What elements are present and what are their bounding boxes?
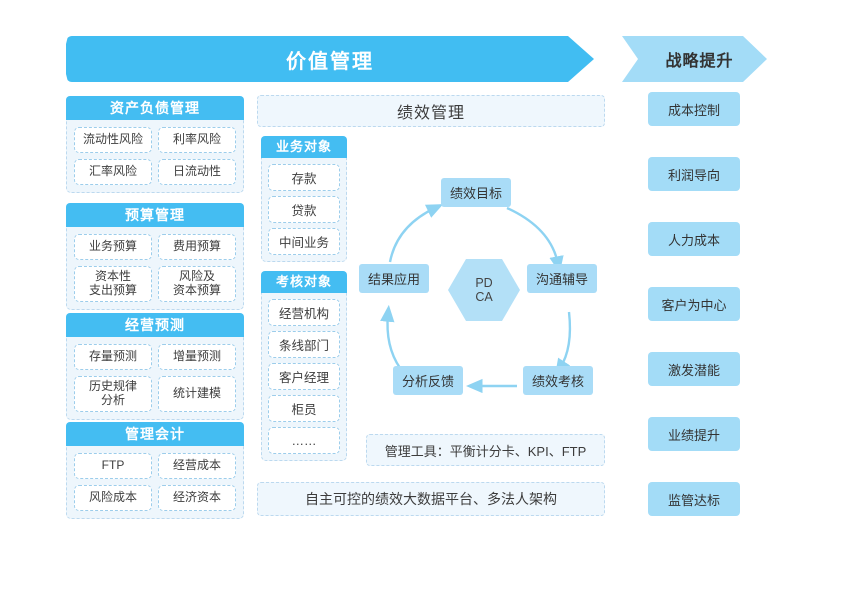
pdca-node-assessment: 绩效考核 [523, 366, 593, 395]
object-column-item[interactable]: 存款 [268, 164, 340, 191]
management-tools-label: 管理工具：平衡计分卡、KPI、FTP [385, 441, 587, 460]
left-panel-title: 资产负债管理 [66, 96, 244, 120]
arrow-goal-to-coaching [507, 208, 558, 264]
object-column-item[interactable]: 条线部门 [268, 331, 340, 358]
left-panel-grid: FTP经营成本风险成本经济资本 [67, 453, 243, 511]
pdca-node-goal: 绩效目标 [441, 178, 511, 207]
left-panel-cell[interactable]: 经济资本 [158, 485, 236, 511]
strategy-item[interactable]: 人力成本 [648, 222, 740, 256]
platform-box: 自主可控的绩效大数据平台、多法人架构 [257, 482, 605, 516]
pdca-node-coaching-label: 沟通辅导 [536, 269, 588, 288]
left-panel: 预算管理业务预算费用预算资本性 支出预算风险及 资本预算 [66, 203, 244, 310]
strategy-item[interactable]: 业绩提升 [648, 417, 740, 451]
left-panel-grid: 存量预测增量预测历史规律 分析统计建模 [67, 344, 243, 412]
object-column-item[interactable]: …… [268, 427, 340, 454]
arrow-analysis-to-application [388, 314, 401, 368]
object-column-item[interactable]: 经营机构 [268, 299, 340, 326]
object-column-title: 考核对象 [261, 271, 347, 293]
left-panel-title: 经营预测 [66, 313, 244, 337]
left-panel-cell[interactable]: 资本性 支出预算 [74, 266, 152, 302]
left-panel-grid: 业务预算费用预算资本性 支出预算风险及 资本预算 [67, 234, 243, 302]
left-panel: 经营预测存量预测增量预测历史规律 分析统计建模 [66, 313, 244, 420]
left-panel-title: 预算管理 [66, 203, 244, 227]
strategy-item[interactable]: 监管达标 [648, 482, 740, 516]
object-column: 考核对象经营机构条线部门客户经理柜员…… [261, 271, 347, 461]
left-panel-cell[interactable]: 经营成本 [158, 453, 236, 479]
left-panel-cell[interactable]: 日流动性 [158, 159, 236, 185]
object-column-item[interactable]: 中间业务 [268, 228, 340, 255]
performance-management-header: 绩效管理 [257, 95, 605, 127]
left-panel-cell[interactable]: 业务预算 [74, 234, 152, 260]
arrow-coaching-to-assessment [560, 312, 570, 368]
left-panel-cell[interactable]: 利率风险 [158, 127, 236, 153]
pdca-node-application-label: 结果应用 [368, 269, 420, 288]
strategy-item[interactable]: 利润导向 [648, 157, 740, 191]
performance-management-title: 绩效管理 [397, 99, 465, 123]
left-panel-cell[interactable]: 流动性风险 [74, 127, 152, 153]
main-banner-value-management: 价值管理 [66, 36, 594, 82]
left-panel-cell[interactable]: 汇率风险 [74, 159, 152, 185]
pdca-node-assessment-label: 绩效考核 [532, 371, 584, 390]
pdca-node-analysis-label: 分析反馈 [402, 371, 454, 390]
main-banner-label: 价值管理 [286, 45, 374, 74]
left-panel: 管理会计FTP经营成本风险成本经济资本 [66, 422, 244, 519]
object-column-item[interactable]: 贷款 [268, 196, 340, 223]
object-column-item[interactable]: 客户经理 [268, 363, 340, 390]
left-panel-title: 管理会计 [66, 422, 244, 446]
pdca-center-line1: PD [475, 276, 492, 290]
pdca-node-coaching: 沟通辅导 [527, 264, 597, 293]
pdca-center-line2: CA [475, 290, 492, 304]
pdca-node-goal-label: 绩效目标 [450, 183, 502, 202]
management-tools-box: 管理工具：平衡计分卡、KPI、FTP [366, 434, 605, 466]
pdca-node-application: 结果应用 [359, 264, 429, 293]
pdca-cycle: 绩效目标 沟通辅导 绩效考核 分析反馈 结果应用 PD CA [355, 170, 610, 405]
left-panel-cell[interactable]: 历史规律 分析 [74, 376, 152, 412]
diagram-canvas: 价值管理 战略提升 资产负债管理流动性风险利率风险汇率风险日流动性预算管理业务预… [0, 0, 842, 595]
strategy-item[interactable]: 客户为中心 [648, 287, 740, 321]
left-panel-cell[interactable]: 统计建模 [158, 376, 236, 412]
pdca-node-analysis: 分析反馈 [393, 366, 463, 395]
object-column-title: 业务对象 [261, 136, 347, 158]
left-panel-cell[interactable]: 风险成本 [74, 485, 152, 511]
left-panel-cell[interactable]: 增量预测 [158, 344, 236, 370]
strategy-banner: 战略提升 [622, 36, 767, 82]
left-panel-cell[interactable]: 存量预测 [74, 344, 152, 370]
strategy-item[interactable]: 成本控制 [648, 92, 740, 126]
left-panel-cell[interactable]: 费用预算 [158, 234, 236, 260]
left-panel: 资产负债管理流动性风险利率风险汇率风险日流动性 [66, 96, 244, 193]
left-panel-cell[interactable]: FTP [74, 453, 152, 479]
left-panel-cell[interactable]: 风险及 资本预算 [158, 266, 236, 302]
platform-label: 自主可控的绩效大数据平台、多法人架构 [305, 489, 557, 509]
object-column: 业务对象存款贷款中间业务 [261, 136, 347, 262]
object-column-list: 存款贷款中间业务 [262, 164, 346, 255]
strategy-item[interactable]: 激发潜能 [648, 352, 740, 386]
object-column-item[interactable]: 柜员 [268, 395, 340, 422]
left-panel-grid: 流动性风险利率风险汇率风险日流动性 [67, 127, 243, 185]
object-column-list: 经营机构条线部门客户经理柜员…… [262, 299, 346, 454]
arrow-application-to-goal [390, 208, 435, 262]
strategy-banner-label: 战略提升 [665, 47, 733, 71]
